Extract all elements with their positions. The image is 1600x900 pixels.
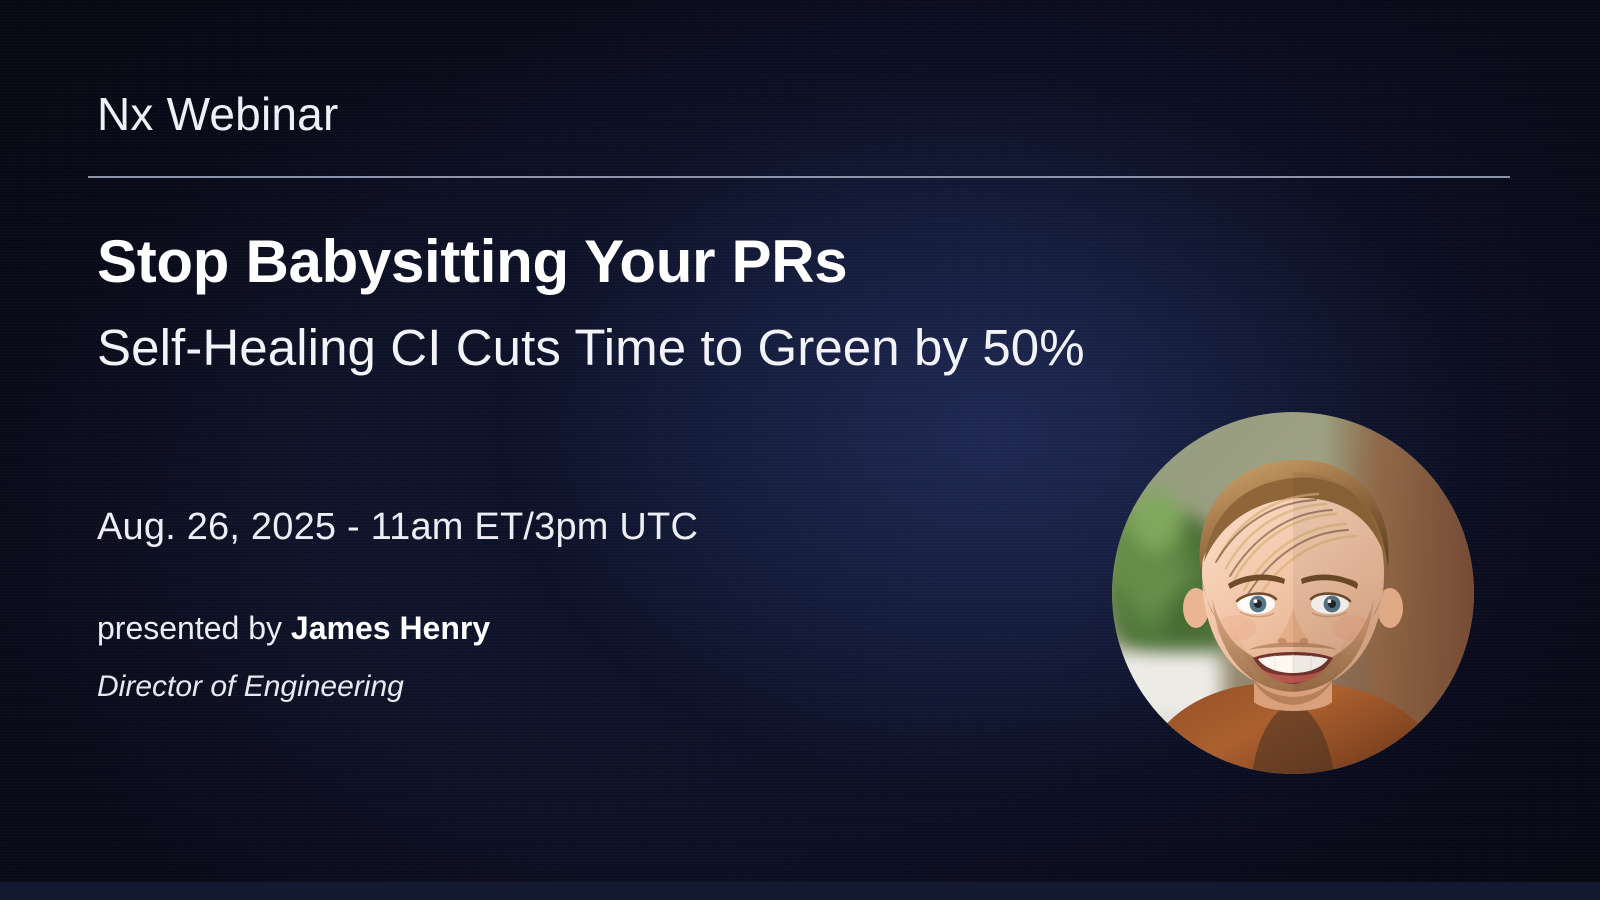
content-column: Nx Webinar Stop Babysitting Your PRs Sel… [97, 0, 1197, 900]
presenter-line: presented by James Henry [97, 608, 490, 648]
webinar-promo-banner: Nx Webinar Stop Babysitting Your PRs Sel… [0, 0, 1600, 900]
headshot-illustration [1112, 412, 1474, 774]
page-subtitle: Self-Healing CI Cuts Time to Green by 50… [97, 312, 1107, 384]
event-datetime: Aug. 26, 2025 - 11am ET/3pm UTC [97, 505, 698, 551]
eyebrow-label: Nx Webinar [97, 89, 338, 140]
presenter-name: James Henry [291, 610, 490, 646]
presented-by-label: presented by [97, 610, 291, 646]
page-title: Stop Babysitting Your PRs [97, 228, 847, 295]
bottom-band [0, 882, 1600, 900]
avatar [1112, 412, 1474, 774]
presenter-role: Director of Engineering [97, 668, 404, 706]
